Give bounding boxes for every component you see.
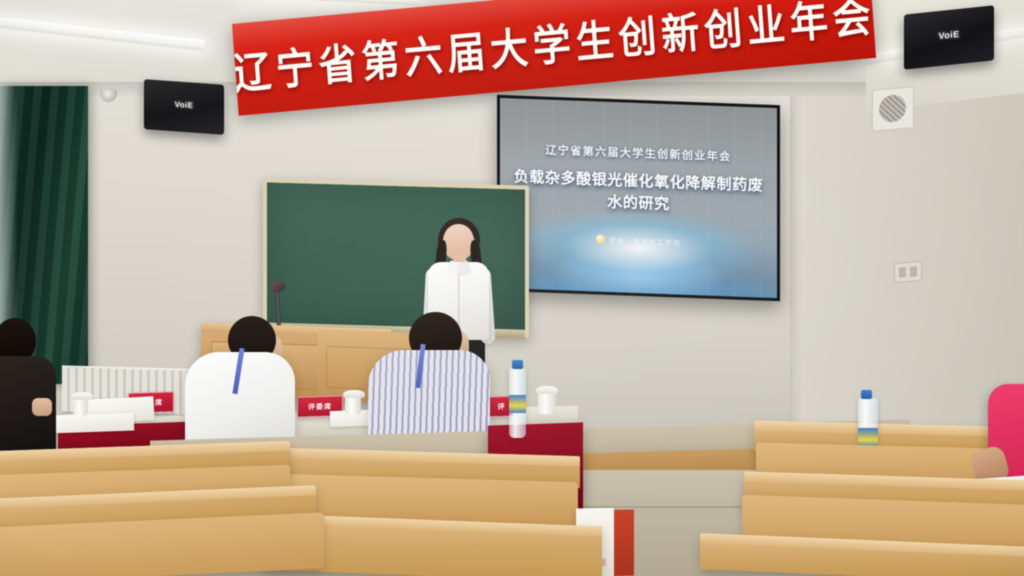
tea-cup — [538, 392, 556, 414]
cup-lid — [536, 386, 558, 394]
tea-cup — [73, 398, 88, 416]
light-switch-plate[interactable] — [894, 261, 922, 283]
left-attendee-hand — [32, 398, 52, 416]
wall-speaker-right: VoiE — [904, 5, 994, 69]
slide-light-burst — [500, 207, 777, 298]
wall-speaker-left: VoiE — [144, 79, 224, 135]
box-side — [614, 509, 634, 575]
water-bottle — [509, 368, 526, 438]
wall-exhaust-fan — [872, 86, 914, 132]
classroom-photo: VoiE VoiE 辽宁省第六届大学生创新创业年会 辽宁省第六届大学生创新创业年… — [0, 0, 1024, 576]
window-light — [0, 86, 18, 336]
slide-surface: 辽宁省第六届大学生创新创业年会 负载杂多酸银光催化氧化降解制药废水的研究 学校：… — [500, 98, 777, 298]
speaker-logo: VoiE — [175, 100, 194, 110]
bottle-label — [509, 395, 526, 413]
speaker-logo: VoiE — [939, 29, 960, 41]
school-seal-icon — [596, 234, 605, 243]
bottle-cap — [861, 390, 872, 399]
projection-screen: 辽宁省第六届大学生创新创业年会 负载杂多酸银光催化氧化降解制药废水的研究 学校：… — [497, 95, 780, 301]
bottle-cap — [512, 360, 523, 369]
paper-stack — [48, 413, 135, 434]
cup-lid — [343, 390, 365, 398]
slide-org-text: 学校：化学化工学院 — [609, 237, 681, 248]
tea-cup — [345, 396, 361, 415]
cup-lid — [71, 392, 93, 400]
